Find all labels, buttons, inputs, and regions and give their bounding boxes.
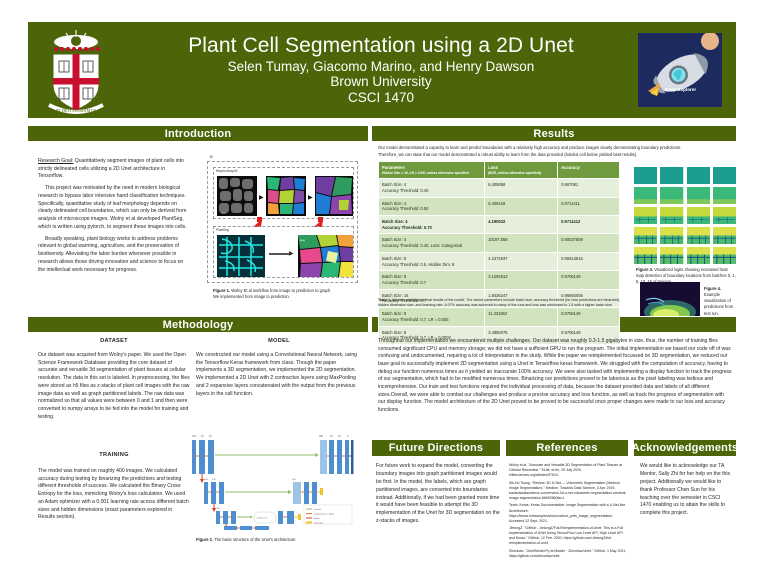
svg-text:128: 128 [212, 479, 216, 481]
methodology-training-label: TRAINING [38, 452, 190, 458]
col-header-parameters-sub: Hidden Dim = 16, LR = 0.001 unless other… [382, 171, 481, 175]
institution-name: Brown University [124, 74, 638, 90]
heatmap-cell [660, 207, 683, 224]
table-1-note-text: Ablation studies and final results of th… [378, 298, 620, 307]
cell-accuracy: 0.96913815 [558, 252, 620, 270]
reference-item: Wolny et al. "Accurate and Versatile 3D … [509, 463, 627, 478]
results-intro-line-2: Therefore, we can state that our model d… [378, 152, 730, 158]
heatmap-cell [660, 247, 683, 264]
figure-2-caption-text: The basic structure of the Unet's archit… [213, 537, 295, 542]
figure-1-caption-label: Figure 1. [213, 288, 230, 293]
introduction-body: Research Goal: Quantitatively segment im… [38, 158, 190, 278]
cell-parameters: Batch Size: 4Accuracy Threshold: 0.50 [379, 197, 485, 215]
figure-1-workflow: B MorphoGraphX raw ▶ [207, 161, 358, 283]
table-row: Batch Size: 8Accuracy Threshold: 0.5, Hi… [379, 252, 620, 270]
page-title: Plant Cell Segmentation using a 2D Unet [124, 34, 638, 59]
reference-item: Sik-Ho Tsang. "Review: 3D U-Net — Volume… [509, 481, 627, 501]
heatmap-cell [687, 227, 710, 244]
section-header-acknowledgements: Acknowledgements [634, 440, 736, 456]
arrow-right-icon-1: ▶ [259, 194, 264, 201]
svg-text:conv2d: conv2d [314, 509, 322, 511]
cell-parameters: Batch Size: 8Accuracy Threshold: 0.7 [379, 271, 485, 289]
results-intro-line-1: Our model demonstrated a capacity to lea… [378, 145, 730, 151]
introduction-paragraph-3: Broadly speaking, plant biology works to… [38, 236, 190, 275]
svg-text:2: 2 [347, 435, 349, 438]
section-header-results: Results [372, 126, 736, 141]
svg-text:64: 64 [338, 435, 341, 438]
heatmap-cell [713, 167, 736, 184]
methodology-training-text: The model was trained on roughly 400 ima… [38, 468, 190, 522]
col-header-loss: Loss (BCE, unless otherwise specified) [485, 162, 558, 179]
brown-university-crest-icon: IN DEO SPERAMUS [28, 22, 124, 118]
figure-2-caption-label: Figure 2. [196, 537, 213, 542]
cell-accuracy: 0.967081 [558, 179, 620, 197]
methodology-model-text: We constructed our model using a Convolu… [196, 352, 362, 398]
crest-motto: IN DEO SPERAMUS [56, 108, 97, 113]
figure-4-caption-text: Example visualization of predictions fro… [704, 292, 733, 315]
reference-item: Zhixuhao. "Unet/Model.Py at Master · Zhi… [509, 549, 627, 559]
cell-accuracy: 0.9706149 [558, 271, 620, 289]
figure-4-prediction-visualization [640, 282, 700, 316]
heatmap-cell [713, 187, 736, 204]
svg-text:64: 64 [201, 435, 204, 438]
research-goal-label: Research Goal: [38, 158, 73, 164]
segmented-colormap-1 [266, 176, 306, 216]
cell-accuracy: 0.9706149 [558, 308, 620, 326]
title-block: Plant Cell Segmentation using a 2D Unet … [124, 34, 638, 107]
figure-3-caption-label: Figure 3. [636, 267, 653, 272]
heatmap-cell [634, 207, 657, 224]
figure-1-row1-label: MorphoGraphX [216, 169, 238, 173]
cell-parameters: Batch Size: 8Accuracy Threshold: 0.7, LR… [379, 308, 485, 326]
heatmap-cell [713, 247, 736, 264]
figure-1-panel-letter: B [210, 154, 213, 159]
cell-loss: 3.1292613 [485, 271, 558, 289]
cell-loss: 6.409418 [485, 197, 558, 215]
poster-header-banner: IN DEO SPERAMUS Plant Cell Segmentation … [28, 22, 736, 118]
section-header-future-directions: Future Directions [372, 440, 500, 456]
table-row: Batch Size: 4Accuracy Threshold: 0.40, L… [379, 234, 620, 252]
figure-2-unet-architecture: 572 64 64 388 64 64 2 [188, 432, 366, 530]
table-row: Batch Size: 8Accuracy Threshold: 0.7, LR… [379, 308, 620, 326]
heatmap-cell [713, 227, 736, 244]
table-row: Batch Size: 4Accuracy Threshold: 0.506.4… [379, 197, 620, 215]
cell-parameters: Batch Size: 4Accuracy Threshold: 0.70 [379, 215, 485, 233]
results-table: Parameters Hidden Dim = 16, LR = 0.001 u… [378, 161, 620, 345]
figure-1-row-plantseg: PlantSeg ▶ [213, 226, 354, 278]
table-1-note-label: Table 1. [378, 298, 391, 302]
cell-accuracy: 0.80037509 [558, 234, 620, 252]
figure-1-caption-text: Wolny Et al workflow from image to predi… [213, 288, 331, 299]
figure-1-row-morphographx: MorphoGraphX raw ▶ [213, 167, 354, 219]
heatmap-cell [634, 187, 657, 204]
section-header-introduction: Introduction [28, 126, 368, 141]
poster-canvas: IN DEO SPERAMUS Plant Cell Segmentation … [0, 0, 764, 573]
figure-1-caption: Figure 1. Wolny Et al workflow from imag… [213, 288, 333, 300]
rocket-label: Deep Explorer [665, 87, 696, 92]
course-code: CSCI 1470 [124, 90, 638, 106]
svg-text:140: 140 [216, 508, 220, 510]
figure-1-row2-label: PlantSeg [216, 228, 229, 232]
heatmap-cell [660, 227, 683, 244]
reference-item: Team, Keras. Keras Documentation: Image … [509, 503, 627, 523]
methodology-model-label: MODEL [196, 338, 362, 344]
svg-text:64: 64 [330, 435, 333, 438]
svg-text:572: 572 [192, 435, 197, 438]
cell-parameters: Batch Size: 4Accuracy Threshold: 0.40, L… [379, 234, 485, 252]
references-list: Wolny et al. "Accurate and Versatile 3D … [509, 463, 627, 562]
discussion-text: Throughout our implementation we encount… [378, 338, 732, 415]
figure-4-caption-label: Figure 4. [704, 286, 721, 291]
svg-text:bottleneck: bottleneck [257, 517, 268, 520]
heatmap-cell [634, 167, 657, 184]
svg-text:flatten: flatten [314, 517, 321, 520]
acknowledgements-text: We would like to acknowledge our TA Ment… [640, 463, 732, 518]
arrow-line-icon [269, 253, 291, 255]
svg-text:seg: seg [300, 238, 305, 242]
heatmap-cell [660, 187, 683, 204]
arrow-right-icon-3: ▶ [289, 250, 294, 257]
heatmap-cell [687, 167, 710, 184]
heatmap-cell [634, 247, 657, 264]
figure-3-heatmap-grid [634, 167, 736, 264]
table-1-note: Table 1. Ablation studies and final resu… [378, 298, 624, 308]
col-header-parameters: Parameters Hidden Dim = 16, LR = 0.001 u… [379, 162, 485, 179]
boundary-prediction-cyan [217, 235, 265, 277]
cell-accuracy: 0.9711411 [558, 197, 620, 215]
section-header-references: References [506, 440, 628, 456]
svg-text:64: 64 [209, 435, 212, 438]
col-header-loss-sub: (BCE, unless otherwise specified) [488, 171, 554, 175]
cell-parameters: Batch Size: 8Accuracy Threshold: 0.5, Hi… [379, 252, 485, 270]
cell-loss: 10197.558 [485, 234, 558, 252]
heatmap-cell [634, 227, 657, 244]
heatmap-cell [687, 207, 710, 224]
introduction-paragraph-2: This project was motivated by the need i… [38, 185, 190, 231]
cell-loss: 4.190532 [485, 215, 558, 233]
cell-loss: 6.405858 [485, 179, 558, 197]
micrograph-grayscale: raw [217, 176, 257, 216]
heatmap-cell [687, 187, 710, 204]
svg-text:200: 200 [292, 479, 296, 481]
segmented-colormap-2: seg [298, 235, 353, 277]
svg-text:388: 388 [319, 435, 324, 438]
cell-loss: 4.2372937 [485, 252, 558, 270]
future-directions-text: For future work to expand the model, con… [376, 463, 500, 526]
graph-partition-1 [315, 176, 353, 216]
table-row: Batch Size: 4Accuracy Threshold: 0.704.1… [379, 215, 620, 233]
reference-item: JielongZ. "GitHub - JielongZ/Full-Reimpl… [509, 526, 627, 546]
methodology-dataset-text: Our dataset was acquired from Wolny's pa… [38, 352, 190, 422]
deep-explorer-rocket-icon: Deep Explorer [638, 33, 722, 107]
svg-text:upsample: upsample [314, 523, 324, 525]
table-row: Batch Size: 8Accuracy Threshold: 0.73.12… [379, 271, 620, 289]
section-header-methodology: Methodology [28, 317, 368, 332]
heatmap-cell [713, 207, 736, 224]
methodology-dataset-label: DATASET [38, 338, 190, 344]
figure-2-caption: Figure 2. The basic structure of the Une… [196, 537, 356, 543]
svg-text:284: 284 [204, 479, 208, 481]
cell-loss: 11.331862 [485, 308, 558, 326]
col-header-accuracy: Accuracy [558, 162, 620, 179]
heatmap-cell [687, 247, 710, 264]
svg-text:raw: raw [221, 211, 227, 215]
cell-accuracy: 0.9711412 [558, 215, 620, 233]
table-row: Batch Size: 4Accuracy Threshold: 0.406.4… [379, 179, 620, 197]
arrow-right-icon-2: ▶ [308, 194, 313, 201]
svg-text:maxpool (2x2 + Relu): maxpool (2x2 + Relu) [314, 514, 334, 516]
cell-parameters: Batch Size: 4Accuracy Threshold: 0.40 [379, 179, 485, 197]
heatmap-cell [660, 167, 683, 184]
author-list: Selen Tumay, Giacomo Marino, and Henry D… [124, 59, 638, 75]
table-header-row: Parameters Hidden Dim = 16, LR = 0.001 u… [379, 162, 620, 179]
figure-4-caption: Figure 4. Example visualization of predi… [704, 286, 736, 317]
